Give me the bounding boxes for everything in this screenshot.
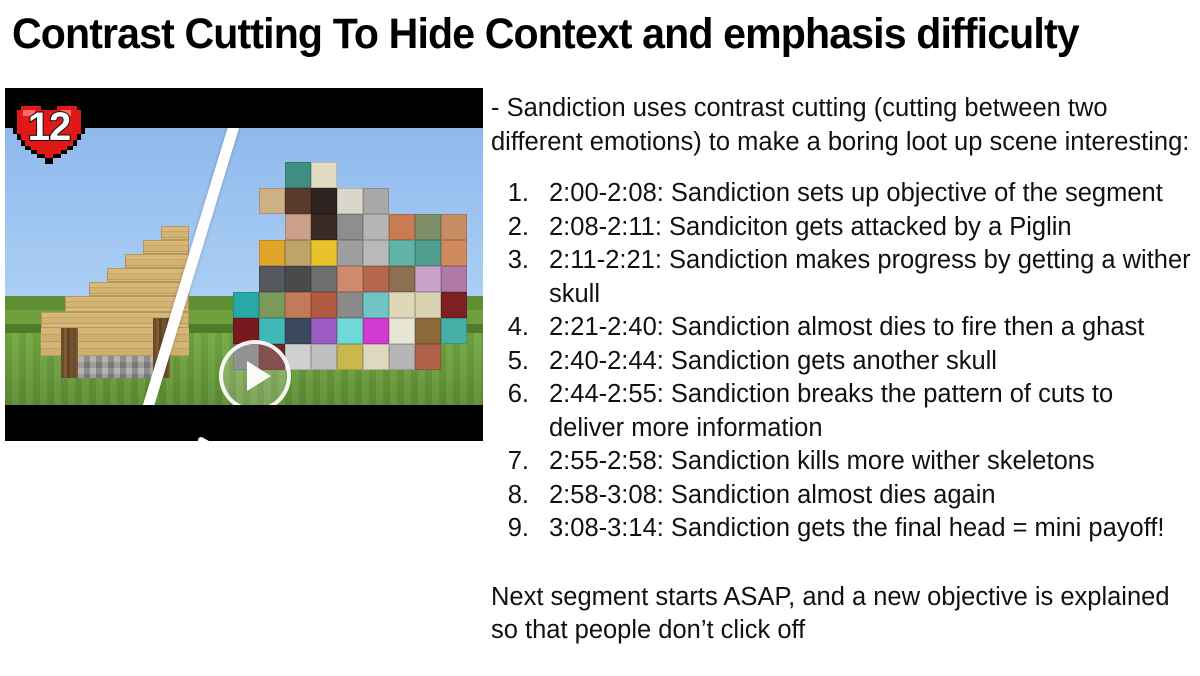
list-item: 3. 2:11-2:21: Sandiction makes progress … xyxy=(491,244,1191,311)
minecraft-house xyxy=(31,226,241,376)
list-item-text: 2:58-3:08: Sandiction almost dies again xyxy=(549,481,996,509)
list-item-number: 6. xyxy=(491,378,529,412)
block-beacon xyxy=(285,318,311,344)
block-darkoak xyxy=(311,214,337,240)
list-item-number: 3. xyxy=(491,244,529,278)
block-magenta-terracotta xyxy=(441,266,467,292)
list-item: 4. 2:21-2:40: Sandiction almost dies to … xyxy=(491,311,1191,345)
block-stone-dark xyxy=(311,266,337,292)
block-dirt-path xyxy=(389,266,415,292)
block-white-concrete xyxy=(389,318,415,344)
block-copper-cut xyxy=(285,292,311,318)
block-prismarine xyxy=(389,240,415,266)
list-item-text: 2:11-2:21: Sandiction makes progress by … xyxy=(549,246,1191,308)
list-item-text: 3:08-3:14: Sandiction gets the final hea… xyxy=(549,514,1165,542)
block-brick-red xyxy=(311,292,337,318)
list-item: 7. 2:55-2:58: Sandiction kills more with… xyxy=(491,445,1191,479)
play-triangle-icon xyxy=(247,361,271,391)
block-planks xyxy=(259,188,285,214)
play-button[interactable] xyxy=(219,340,291,405)
list-item: 9. 3:08-3:14: Sandiction gets the final … xyxy=(491,512,1191,546)
list-item-text: 2:40-2:44: Sandiction gets another skull xyxy=(549,347,997,375)
block-bookshelf xyxy=(415,318,441,344)
block-blackstone xyxy=(311,188,337,214)
block-bone xyxy=(363,344,389,370)
block-stone xyxy=(363,188,389,214)
block-endstone xyxy=(389,292,415,318)
page-title: Contrast Cutting To Hide Context and emp… xyxy=(12,6,1139,62)
block-mud xyxy=(285,240,311,266)
list-item-text: 2:00-2:08: Sandiction sets up objective … xyxy=(549,179,1163,207)
block-andesite xyxy=(363,214,389,240)
block-brick xyxy=(415,344,441,370)
thumbnail-scene xyxy=(5,128,483,405)
block-cobble xyxy=(337,240,363,266)
list-item: 6. 2:44-2:55: Sandiction breaks the patt… xyxy=(491,378,1191,445)
block-brick xyxy=(363,266,389,292)
block-prismarine-dark xyxy=(415,240,441,266)
outro-paragraph: Next segment starts ASAP, and a new obje… xyxy=(491,581,1191,648)
block-copper xyxy=(337,266,363,292)
block-endstone xyxy=(415,292,441,318)
block-granite xyxy=(441,214,467,240)
list-item-number: 9. xyxy=(491,512,529,546)
list-item: 2. 2:08-2:11: Sandiciton gets attacked b… xyxy=(491,211,1191,245)
health-value: 12 xyxy=(13,106,85,148)
block-terracotta xyxy=(389,214,415,240)
list-item-number: 8. xyxy=(491,479,529,513)
slide-body: - Sandiction uses contrast cutting (cutt… xyxy=(491,92,1191,648)
list-item-number: 5. xyxy=(491,345,529,379)
video-thumbnail[interactable]: 12 xyxy=(5,88,483,441)
block-coal xyxy=(285,266,311,292)
block-mossy xyxy=(415,214,441,240)
intro-paragraph: - Sandiction uses contrast cutting (cutt… xyxy=(491,92,1191,159)
block-soulsand xyxy=(285,188,311,214)
list-item-number: 2. xyxy=(491,211,529,245)
block-sandstone xyxy=(311,162,337,188)
block-diamond-block xyxy=(337,318,363,344)
block-orange xyxy=(259,240,285,266)
block-stone xyxy=(363,240,389,266)
segment-list: 1. 2:00-2:08: Sandiction sets up objecti… xyxy=(491,177,1191,546)
list-item-text: 2:21-2:40: Sandiction almost dies to fir… xyxy=(549,313,1144,341)
list-item-text: 2:44-2:55: Sandiction breaks the pattern… xyxy=(549,380,1113,442)
block-sponge xyxy=(337,344,363,370)
block-moss xyxy=(259,292,285,318)
block-gold xyxy=(311,240,337,266)
block-cobble xyxy=(337,292,363,318)
list-item-number: 4. xyxy=(491,311,529,345)
block-iron xyxy=(389,344,415,370)
list-item-number: 7. xyxy=(491,445,529,479)
block-diorite xyxy=(337,188,363,214)
block-terracotta xyxy=(441,240,467,266)
list-item: 5. 2:40-2:44: Sandiction gets another sk… xyxy=(491,345,1191,379)
list-item: 1. 2:00-2:08: Sandiction sets up objecti… xyxy=(491,177,1191,211)
block-magenta-wool xyxy=(363,318,389,344)
block-prismarine xyxy=(285,162,311,188)
list-item-number: 1. xyxy=(491,177,529,211)
block-purpur xyxy=(415,266,441,292)
block-amethyst xyxy=(311,318,337,344)
block-cobble xyxy=(337,214,363,240)
list-item-text: 2:55-2:58: Sandiction kills more wither … xyxy=(549,447,1095,475)
health-indicator: 12 xyxy=(13,98,85,164)
block-prismarine xyxy=(441,318,467,344)
block-nether-brick xyxy=(441,292,467,318)
block-smooth-quartz xyxy=(311,344,337,370)
block-warped xyxy=(363,292,389,318)
list-item: 8. 2:58-3:08: Sandiction almost dies aga… xyxy=(491,479,1191,513)
block-cyan xyxy=(233,292,259,318)
red-arrow-annotation xyxy=(105,406,265,441)
block-deepslate xyxy=(259,266,285,292)
list-item-text: 2:08-2:11: Sandiciton gets attacked by a… xyxy=(549,213,1072,241)
block-mushroom xyxy=(285,214,311,240)
